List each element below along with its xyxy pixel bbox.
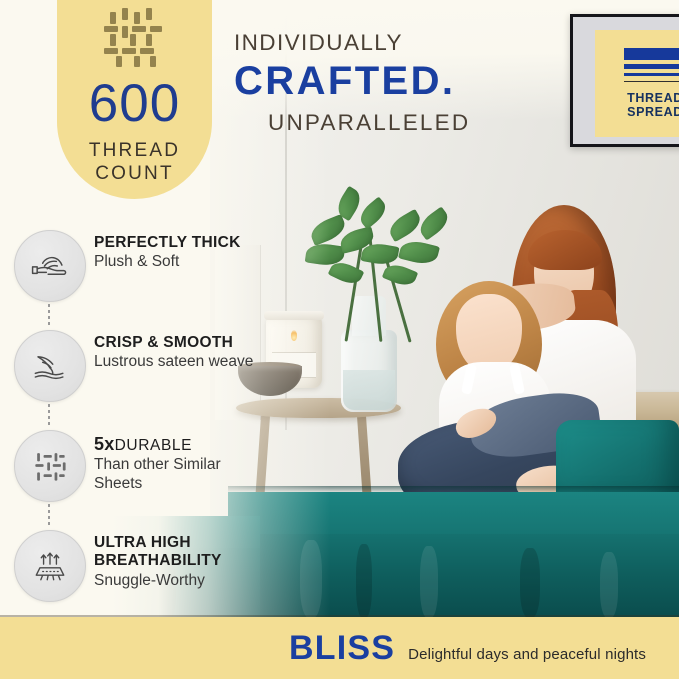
feature-connector-dots (48, 304, 50, 328)
logo-stripe-4 (624, 81, 679, 83)
feature-icon-badge (14, 330, 86, 402)
bottom-banner: BLISS Delightful days and peaceful night… (0, 617, 679, 679)
feature-item-breathability: ULTRA HIGH BREATHABILITY Snuggle-Worthy (12, 528, 252, 628)
headline-sub: UNPARALLELED (268, 110, 470, 136)
logo-stripes-icon (624, 48, 679, 83)
product-tagline: Delightful days and peaceful nights (408, 646, 646, 663)
sheet-fold (300, 540, 322, 618)
feature-item-crisp-smooth: CRISP & SMOOTH Lustrous sateen weave (12, 328, 252, 428)
brand-name: THREAD SPREAD (627, 91, 679, 119)
woven-fabric-icon (104, 8, 166, 68)
feature-connector-dots (48, 504, 50, 528)
feature-text: 5xDURABLE Than other Similar Sheets (94, 434, 254, 493)
brand-logo: THREAD SPREAD (595, 30, 679, 137)
brand-name-line2: SPREAD (627, 105, 679, 119)
basket-weave-icon (28, 444, 72, 488)
feature-desc: Than other Similar Sheets (94, 456, 254, 493)
airflow-breathability-icon (28, 544, 72, 588)
thread-count-badge: 600 THREAD COUNT (57, 0, 212, 199)
feature-title: CRISP & SMOOTH (94, 334, 254, 352)
feature-text: CRISP & SMOOTH Lustrous sateen weave (94, 334, 254, 372)
thread-count-label-line1: THREAD (57, 140, 212, 162)
feature-title-lead: 5x (94, 434, 115, 454)
infographic-canvas: 600 THREAD COUNT INDIVIDUALLY CRAFTED. U… (0, 0, 679, 679)
logo-stripe-1 (624, 48, 679, 60)
brand-name-line1: THREAD (627, 91, 679, 105)
feature-item-perfectly-thick: PERFECTLY THICK Plush & Soft (12, 228, 252, 328)
feature-icon-badge (14, 530, 86, 602)
candle-flame (291, 330, 297, 341)
feature-desc: Lustrous sateen weave (94, 353, 254, 372)
feature-connector-dots (48, 404, 50, 428)
feature-item-durable: 5xDURABLE Than other Similar Sheets (12, 428, 252, 528)
feature-title: PERFECTLY THICK (94, 234, 254, 252)
feature-text: ULTRA HIGH BREATHABILITY Snuggle-Worthy (94, 534, 254, 590)
banner-content: BLISS Delightful days and peaceful night… (289, 629, 646, 668)
feature-title-rest: DURABLE (115, 437, 192, 454)
product-line-name: BLISS (289, 629, 395, 668)
logo-stripe-3 (624, 73, 679, 76)
feature-desc: Snuggle-Worthy (94, 572, 254, 591)
headline-block: INDIVIDUALLY CRAFTED. UNPARALLELED (234, 30, 470, 136)
eucalyptus-plant (300, 186, 460, 336)
brand-logo-frame: THREAD SPREAD (570, 14, 679, 147)
feature-title: 5xDURABLE (94, 434, 254, 455)
feature-list: PERFECTLY THICK Plush & Soft CRISP & SMO… (12, 228, 252, 628)
headline-main: CRAFTED. (234, 60, 470, 102)
sheet-fold (420, 546, 438, 618)
feature-text: PERFECTLY THICK Plush & Soft (94, 234, 254, 272)
feature-desc: Plush & Soft (94, 253, 254, 272)
thread-count-number: 600 (57, 77, 212, 130)
logo-stripe-2 (624, 64, 679, 69)
headline-eyebrow: INDIVIDUALLY (234, 30, 470, 56)
feature-icon-badge (14, 430, 86, 502)
sheet-shadow (356, 544, 372, 618)
feature-icon-badge (14, 230, 86, 302)
feature-title: ULTRA HIGH BREATHABILITY (94, 534, 254, 571)
sheet-fold (600, 552, 618, 618)
banner-top-rule (0, 615, 679, 617)
vase-water (343, 370, 395, 410)
hand-plush-fabric-icon (28, 244, 72, 288)
thread-count-label-line2: COUNT (57, 163, 212, 185)
sheet-shadow (520, 548, 540, 618)
hand-smoothing-sheet-icon (28, 344, 72, 388)
